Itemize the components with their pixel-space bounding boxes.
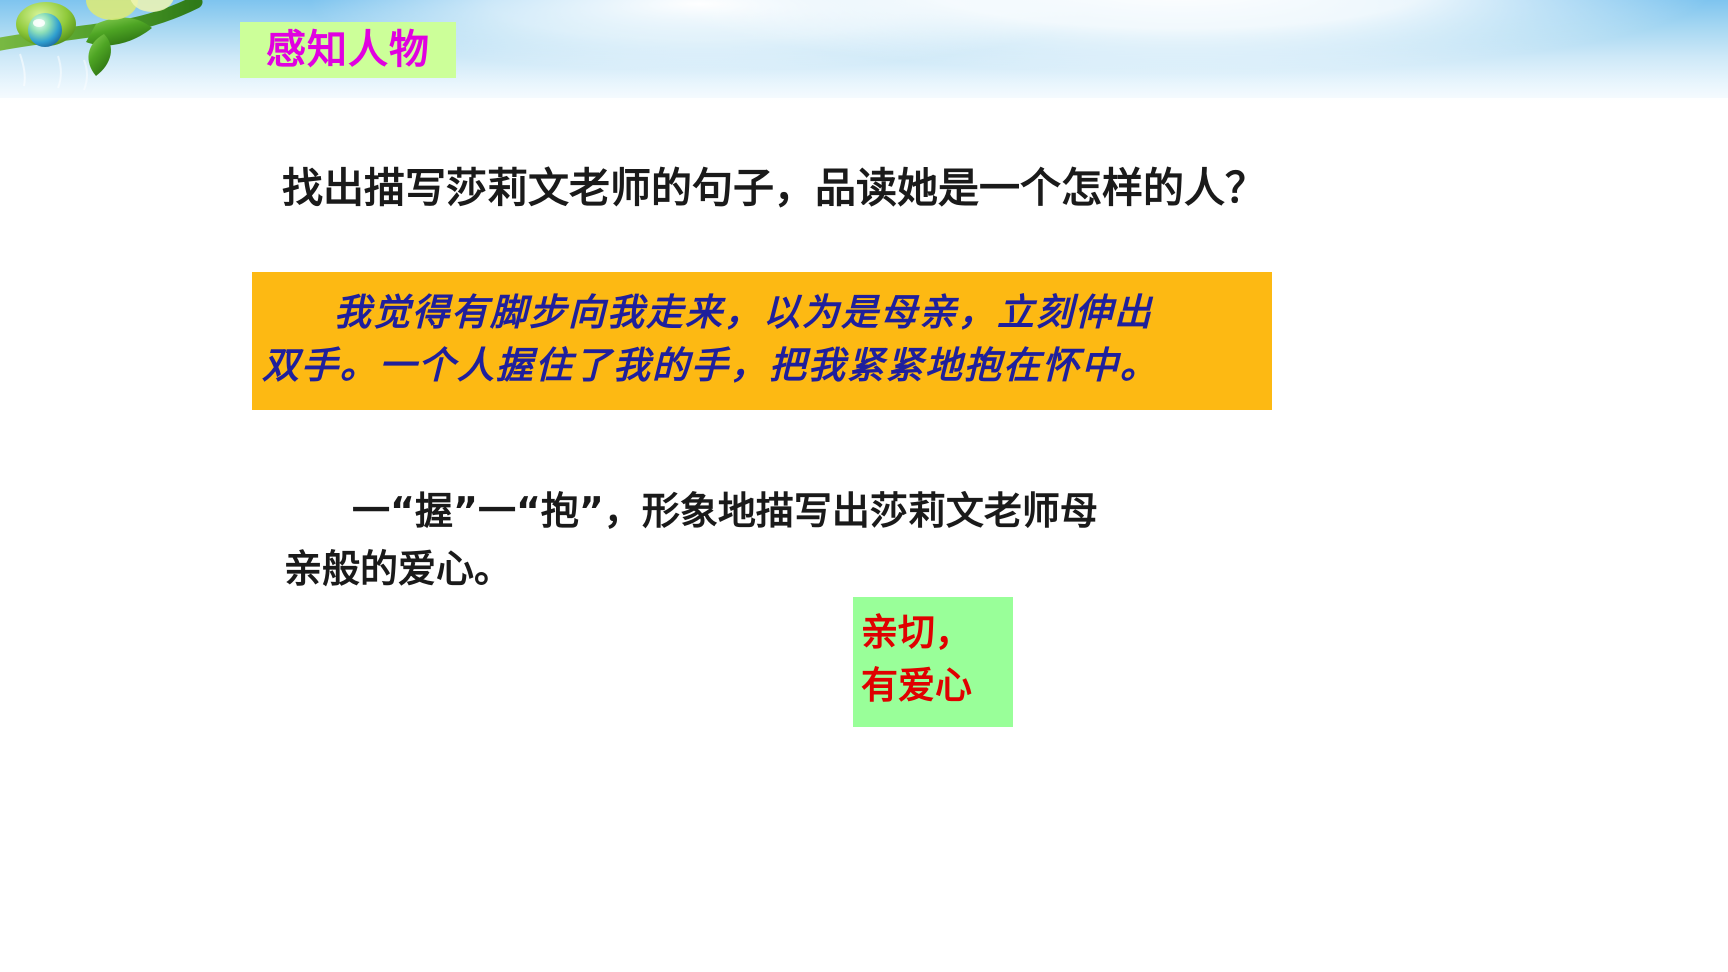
analysis-paragraph: 一“握”一“抱”，形象地描写出莎莉文老师母 亲般的爱心。: [284, 483, 1294, 599]
answer-callout-box: 亲切， 有爱心: [853, 597, 1013, 727]
quote-line-1-text: 我觉得有脚步向我走来，以为是母亲，立刻伸出: [334, 290, 1153, 334]
analysis-line-1-text: 一“握”一“抱”，形象地描写出莎莉文老师母: [352, 489, 1098, 533]
leaf-dewdrop-icon: [0, 0, 240, 102]
slide-canvas: 感知人物 找出描写莎莉文老师的句子，品读她是一个怎样的人？ 我觉得有脚步向我走来…: [0, 0, 1728, 972]
answer-line-2: 有爱心: [861, 660, 1013, 713]
analysis-line-2: 亲般的爱心。: [284, 541, 1294, 599]
question-text: 找出描写莎莉文老师的句子，品读她是一个怎样的人？: [282, 163, 1482, 213]
section-title-chip: 感知人物: [240, 22, 456, 78]
section-title-text: 感知人物: [266, 30, 430, 70]
quote-line-2: 双手。一个人握住了我的手，把我紧紧地抱在怀中。: [262, 339, 1264, 392]
quote-highlight-box: 我觉得有脚步向我走来，以为是母亲，立刻伸出 双手。一个人握住了我的手，把我紧紧地…: [252, 272, 1272, 410]
analysis-line-1: 一“握”一“抱”，形象地描写出莎莉文老师母: [284, 483, 1294, 541]
answer-line-1: 亲切，: [861, 607, 1013, 660]
quote-line-1: 我觉得有脚步向我走来，以为是母亲，立刻伸出: [262, 286, 1264, 339]
